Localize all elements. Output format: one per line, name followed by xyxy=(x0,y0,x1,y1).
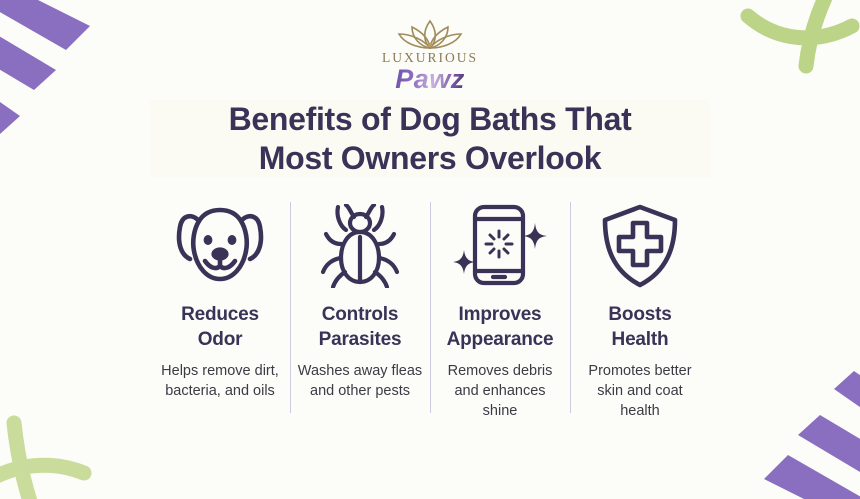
infographic-canvas: LUXURIOUS Pawz Benefits of Dog Baths Tha… xyxy=(0,0,860,499)
dog-face-icon xyxy=(174,200,266,292)
benefit-title: Controls Parasites xyxy=(319,302,402,352)
benefit-title-line-1: Reduces xyxy=(181,302,259,327)
lotus-flower-icon xyxy=(391,14,469,54)
page-title-line-2: Most Owners Overlook xyxy=(150,139,710,178)
logo-wordmark-top: LUXURIOUS xyxy=(382,51,478,65)
benefit-description: Helps remove dirt, bacteria, and oils xyxy=(156,361,284,401)
benefit-title-line-2: Health xyxy=(608,327,671,352)
benefit-title-line-1: Improves xyxy=(447,302,554,327)
benefit-columns: Reduces Odor Helps remove dirt, bacteria… xyxy=(150,200,710,421)
benefit-title-line-1: Boosts xyxy=(608,302,671,327)
benefit-column-boosts-health: Boosts Health Promotes better skin and c… xyxy=(570,200,710,421)
shield-cross-icon xyxy=(597,200,683,292)
benefit-title: Improves Appearance xyxy=(447,302,554,352)
beetle-bug-icon xyxy=(316,200,404,292)
benefit-column-reduces-odor: Reduces Odor Helps remove dirt, bacteria… xyxy=(150,200,290,421)
brand-logo: LUXURIOUS Pawz xyxy=(0,14,860,93)
green-sprout-bottom-left xyxy=(0,389,129,499)
benefit-title-line-2: Odor xyxy=(181,327,259,352)
benefit-description: Removes debris and enhances shine xyxy=(436,361,564,421)
page-title: Benefits of Dog Baths That Most Owners O… xyxy=(150,100,710,178)
purple-rays-bottom-right xyxy=(706,369,860,499)
benefit-title: Boosts Health xyxy=(608,302,671,352)
logo-wordmark-main: Pawz xyxy=(395,66,465,93)
page-title-line-1: Benefits of Dog Baths That xyxy=(150,100,710,139)
benefit-description: Washes away fleas and other pests xyxy=(296,361,424,401)
benefit-column-improves-appearance: Improves Appearance Removes debris and e… xyxy=(430,200,570,421)
benefit-title-line-2: Parasites xyxy=(319,327,402,352)
phone-sparkle-icon xyxy=(451,200,549,292)
benefit-description: Promotes better skin and coat health xyxy=(576,361,704,421)
benefit-title-line-1: Controls xyxy=(319,302,402,327)
benefit-title-line-2: Appearance xyxy=(447,327,554,352)
benefit-column-controls-parasites: Controls Parasites Washes away fleas and… xyxy=(290,200,430,421)
benefit-title: Reduces Odor xyxy=(181,302,259,352)
